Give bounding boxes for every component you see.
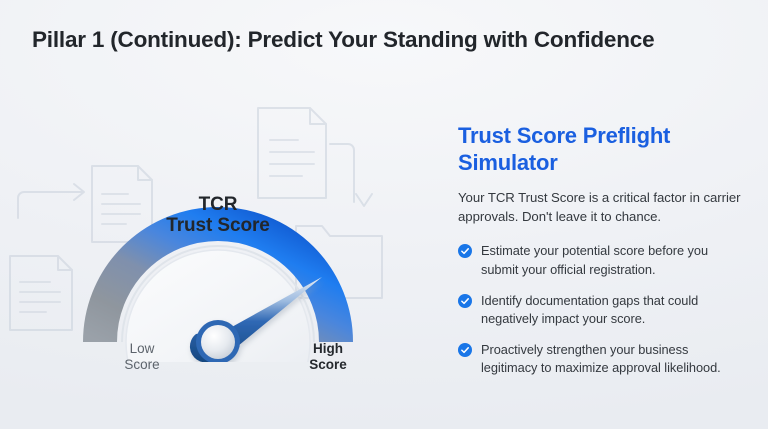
- list-item-text: Estimate your potential score before you…: [481, 242, 748, 278]
- gauge-center-label: TCR Trust Score: [70, 194, 366, 237]
- list-item: Estimate your potential score before you…: [458, 242, 748, 278]
- panel-subtext: Your TCR Trust Score is a critical facto…: [458, 188, 748, 226]
- gauge-low-line2: Score: [124, 357, 159, 372]
- check-circle-icon: [458, 294, 472, 308]
- gauge-high-score-label: High Score: [292, 341, 364, 372]
- slide-canvas: Pillar 1 (Continued): Predict Your Stand…: [0, 0, 768, 429]
- info-panel: Trust Score Preflight Simulator Your TCR…: [458, 122, 748, 377]
- gauge-center-line1: TCR: [70, 194, 366, 215]
- check-circle-icon: [458, 244, 472, 258]
- gauge-high-line2: Score: [309, 357, 347, 372]
- check-circle-icon: [458, 343, 472, 357]
- list-item: Identify documentation gaps that could n…: [458, 292, 748, 328]
- gauge-graphic: [70, 142, 370, 362]
- list-item: Proactively strengthen your business leg…: [458, 341, 748, 377]
- trust-score-gauge: TCR Trust Score Low Score High Score: [70, 142, 370, 362]
- page-title: Pillar 1 (Continued): Predict Your Stand…: [32, 27, 654, 53]
- benefit-list: Estimate your potential score before you…: [458, 242, 748, 377]
- list-item-text: Proactively strengthen your business leg…: [481, 341, 748, 377]
- gauge-low-score-label: Low Score: [106, 341, 178, 372]
- gauge-center-line2: Trust Score: [70, 215, 366, 236]
- list-item-text: Identify documentation gaps that could n…: [481, 292, 748, 328]
- panel-heading: Trust Score Preflight Simulator: [458, 122, 748, 176]
- gauge-low-line1: Low: [130, 341, 155, 356]
- gauge-high-line1: High: [313, 341, 343, 356]
